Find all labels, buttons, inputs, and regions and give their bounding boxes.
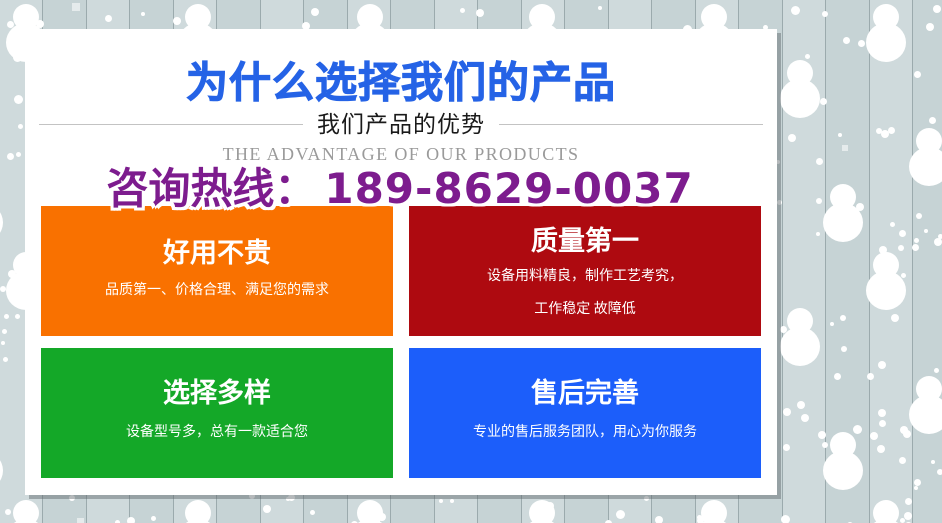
dot-motif: [18, 124, 23, 129]
dot-motif: [905, 498, 912, 505]
dot-motif: [916, 213, 922, 219]
dot-motif: [820, 98, 827, 105]
dot-motif: [878, 361, 886, 369]
dot-motif: [816, 198, 822, 204]
snowman-body: [909, 395, 942, 434]
dot-motif: [13, 53, 22, 62]
snowman-body: [780, 79, 820, 118]
dot-motif: [546, 502, 554, 510]
dot-motif: [927, 425, 932, 430]
dot-motif: [914, 71, 921, 78]
dot-motif: [655, 516, 663, 523]
dot-motif: [805, 54, 810, 59]
dot-motif: [867, 373, 874, 380]
dot-motif: [801, 414, 809, 422]
snowman-body: [909, 147, 942, 186]
feature-title: 售后完善: [409, 380, 761, 407]
dot-motif: [788, 134, 796, 142]
dot-motif: [2, 329, 7, 334]
dot-motif: [881, 130, 889, 138]
dot-motif: [822, 442, 828, 448]
dot-motif: [4, 314, 9, 319]
dot-motif: [822, 11, 828, 17]
dot-motif: [816, 158, 823, 165]
dot-motif: [439, 499, 443, 503]
dot-motif: [105, 15, 112, 22]
dot-motif: [926, 23, 934, 31]
dot-motif: [937, 469, 942, 475]
hotline-number: 189-8629-0037: [324, 164, 693, 213]
dot-motif: [378, 513, 386, 521]
dot-motif: [263, 505, 271, 513]
dot-motif: [36, 20, 44, 28]
square-motif: [72, 3, 80, 11]
square-motif: [842, 145, 848, 151]
dot-motif: [791, 6, 800, 15]
dot-motif: [801, 342, 808, 349]
subtitle-wrapper: 我们产品的优势: [25, 105, 777, 139]
snowman-motif: [780, 60, 820, 118]
dot-motif: [797, 401, 805, 409]
dot-motif: [3, 357, 8, 362]
page-subtitle: 我们产品的优势: [303, 105, 499, 139]
dot-motif: [914, 238, 919, 243]
dot-motif: [898, 245, 904, 251]
dot-motif: [816, 232, 820, 236]
dot-motif: [476, 9, 484, 17]
dot-motif: [8, 270, 16, 278]
dot-motif: [891, 314, 899, 322]
dot-motif: [14, 95, 23, 104]
dot-motif: [370, 511, 375, 516]
dot-motif: [931, 460, 935, 464]
page-title: 为什么选择我们的产品: [25, 49, 777, 110]
dot-motif: [878, 409, 886, 417]
dot-motif: [616, 510, 625, 519]
feature-card-value[interactable]: 好用不贵 品质第一、价格合理、满足您的需求: [41, 206, 393, 336]
square-motif: [77, 518, 84, 523]
dot-motif: [912, 244, 919, 251]
feature-title: 好用不贵: [41, 240, 393, 267]
dot-motif: [930, 393, 936, 399]
dot-motif: [840, 315, 846, 321]
dot-motif: [311, 8, 319, 16]
snowman-motif: [909, 128, 942, 186]
dot-motif: [890, 222, 895, 227]
promotional-poster: 为什么选择我们的产品 我们产品的优势 THE ADVANTAGE OF OUR …: [0, 0, 942, 523]
dot-motif: [5, 509, 11, 515]
dot-motif: [1, 341, 5, 345]
dot-motif: [127, 517, 135, 523]
dot-motif: [15, 314, 20, 319]
dot-motif: [173, 17, 181, 25]
dot-motif: [141, 12, 145, 16]
square-motif: [709, 518, 715, 523]
feature-description: 设备型号多，总有一款适合您: [41, 421, 393, 444]
feature-card-variety[interactable]: 选择多样 设备型号多，总有一款适合您: [41, 348, 393, 478]
snowman-body: [823, 451, 863, 490]
feature-card-quality[interactable]: 质量第一 设备用料精良，制作工艺考究， 工作稳定 故障低: [409, 206, 761, 336]
snowman-motif: [780, 308, 820, 366]
dot-motif: [882, 270, 887, 275]
dot-motif: [934, 368, 939, 373]
dot-motif: [697, 517, 704, 523]
dot-motif: [914, 479, 921, 486]
dot-motif: [830, 322, 834, 326]
dot-motif: [841, 346, 847, 352]
dot-motif: [792, 316, 796, 320]
feature-description: 专业的售后服务团队，用心为你服务: [409, 421, 761, 444]
dot-motif: [792, 82, 799, 89]
snowman-body: [866, 23, 906, 62]
snowman-motif: [0, 184, 3, 242]
feature-title: 质量第一: [409, 228, 761, 255]
dot-motif: [151, 516, 156, 521]
page-subtitle-english: THE ADVANTAGE OF OUR PRODUCTS: [25, 144, 777, 165]
snowman-motif: [522, 500, 562, 523]
snowman-motif: [823, 184, 863, 242]
dot-motif: [870, 432, 878, 440]
dot-motif: [933, 5, 941, 13]
dot-motif: [843, 37, 850, 44]
hotline-label: 咨询热线：: [106, 164, 316, 213]
dot-motif: [844, 476, 850, 482]
dot-motif: [818, 431, 826, 439]
dot-motif: [16, 152, 21, 157]
snowman-motif: [866, 252, 906, 310]
dot-motif: [899, 230, 906, 237]
snowman-body: [522, 519, 562, 523]
hotline-banner: 咨询热线：189-8629-0037: [50, 168, 750, 210]
dot-motif: [888, 127, 895, 134]
feature-title: 选择多样: [41, 380, 393, 407]
snowman-motif: [6, 500, 46, 523]
content-panel: 为什么选择我们的产品 我们产品的优势 THE ADVANTAGE OF OUR …: [25, 29, 777, 495]
snowman-body: [780, 327, 820, 366]
dot-motif: [783, 444, 790, 451]
feature-description: 品质第一、价格合理、满足您的需求: [41, 279, 393, 302]
dot-motif: [934, 238, 942, 246]
dot-motif: [879, 420, 886, 427]
dot-motif: [856, 203, 864, 211]
dot-motif: [450, 499, 454, 503]
dot-motif: [838, 133, 842, 137]
dot-motif: [899, 457, 906, 464]
dot-motif: [879, 246, 887, 254]
dot-motif: [781, 515, 790, 523]
snowman-body: [0, 203, 3, 242]
feature-description-line2: 工作稳定 故障低: [409, 298, 761, 321]
feature-grid: 好用不贵 品质第一、价格合理、满足您的需求 质量第一 设备用料精良，制作工艺考究…: [41, 206, 761, 478]
snowman-body: [0, 451, 3, 490]
snowman-motif: [178, 500, 218, 523]
feature-description-line1: 设备用料精良，制作工艺考究，: [409, 265, 761, 288]
dot-motif: [914, 486, 918, 490]
dot-motif: [877, 445, 885, 453]
dot-motif: [780, 326, 787, 333]
dot-motif: [876, 128, 882, 134]
dot-motif: [598, 6, 602, 10]
dot-motif: [869, 45, 875, 51]
feature-card-aftersales[interactable]: 售后完善 专业的售后服务团队，用心为你服务: [409, 348, 761, 478]
dot-motif: [783, 408, 791, 416]
dot-motif: [901, 273, 906, 278]
dot-motif: [832, 481, 838, 487]
dot-motif: [903, 430, 911, 438]
snowman-motif: [909, 376, 942, 434]
dot-motif: [7, 153, 14, 160]
dot-motif: [858, 40, 865, 47]
dot-motif: [460, 8, 465, 13]
dot-motif: [915, 173, 922, 180]
dot-motif: [834, 373, 841, 380]
snowman-body: [178, 519, 218, 523]
dot-motif: [7, 21, 14, 28]
dot-motif: [853, 425, 862, 434]
dot-motif: [929, 117, 936, 124]
dot-motif: [841, 439, 845, 443]
snowman-body: [866, 271, 906, 310]
dot-motif: [904, 512, 912, 520]
snowman-motif: [866, 4, 906, 62]
snowman-motif: [0, 432, 3, 490]
dot-motif: [0, 286, 6, 292]
dot-motif: [924, 229, 928, 233]
dot-motif: [310, 510, 315, 515]
